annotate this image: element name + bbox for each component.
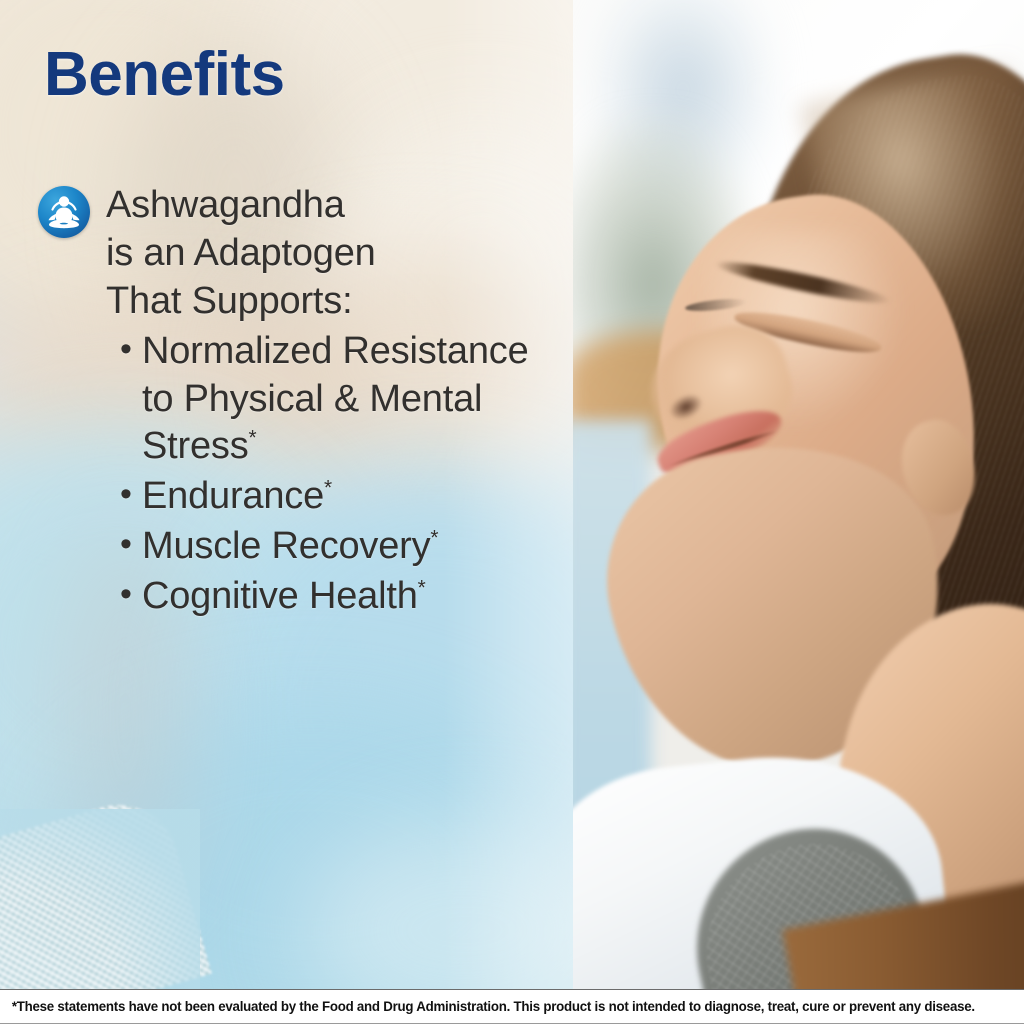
disclaimer-bar: *These statements have not been evaluate… (0, 989, 1024, 1024)
list-item: Normalized Resistance to Physical & Ment… (38, 328, 558, 472)
benefits-content: Ashwagandha is an Adaptogen That Support… (38, 182, 558, 621)
lead-statement-row: Ashwagandha is an Adaptogen That Support… (38, 182, 558, 326)
benefit-label: Endurance (142, 475, 324, 517)
lead-line-2: is an Adaptogen (106, 232, 376, 274)
benefits-list: Normalized Resistance to Physical & Ment… (38, 328, 558, 621)
lifestyle-photo (573, 0, 1024, 989)
list-item: Endurance* (38, 473, 558, 521)
lead-statement-text: Ashwagandha is an Adaptogen That Support… (106, 182, 558, 326)
benefit-label: Muscle Recovery (142, 525, 430, 567)
benefit-label: Normalized Resistance to Physical & Ment… (142, 330, 529, 468)
product-benefits-infographic: Benefits (0, 0, 1024, 1024)
footnote-marker: * (324, 477, 332, 500)
footnote-marker: * (430, 526, 438, 549)
background-blur-shape (300, 820, 573, 989)
patterned-blanket-corner (0, 791, 212, 989)
disclaimer-text: *These statements have not been evaluate… (0, 999, 985, 1014)
footnote-marker: * (418, 576, 426, 599)
footnote-marker: * (249, 427, 257, 450)
page-title: Benefits (44, 44, 285, 106)
meditation-lotus-icon (38, 186, 90, 238)
lead-line-3: That Supports: (106, 280, 352, 322)
list-item: Muscle Recovery* (38, 523, 558, 571)
lead-line-1: Ashwagandha (106, 184, 345, 226)
list-item: Cognitive Health* (38, 573, 558, 621)
benefit-label: Cognitive Health (142, 575, 418, 617)
